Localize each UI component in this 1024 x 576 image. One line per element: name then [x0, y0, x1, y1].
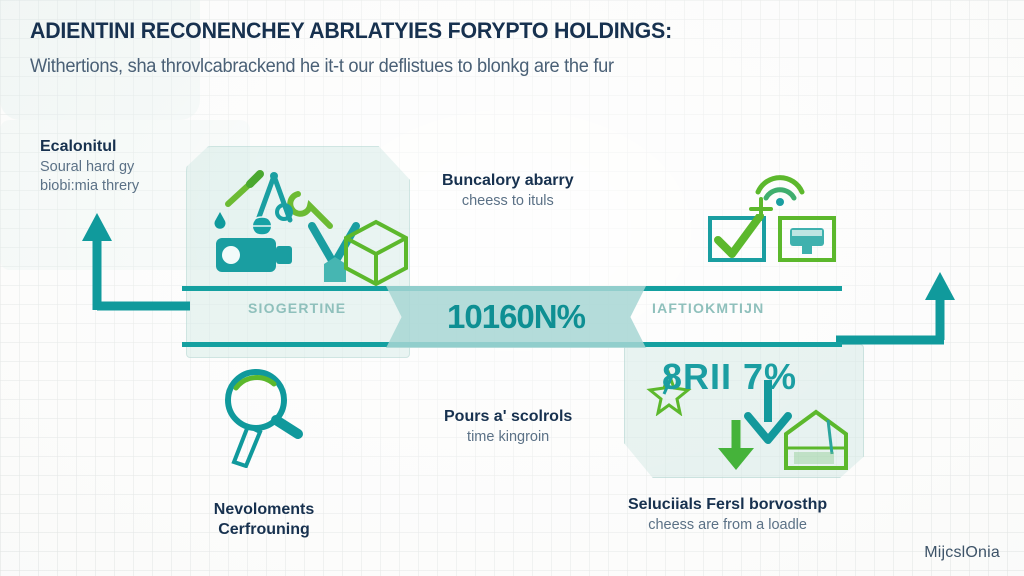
label-top-left-line1: Soural hard gy: [40, 159, 139, 175]
banner-caption-right: IAFTIOKMTIJN: [652, 300, 764, 316]
infographic-canvas: ADIENTINI RECONENCHEY ABRLATYIES FORYPTO…: [0, 0, 1024, 576]
page-title: ADIENTINI RECONENCHEY ABRLATYIES FORYPTO…: [30, 18, 961, 44]
label-middle: Pours a' scolrols time kingroin: [444, 408, 572, 445]
label-bottom-left-title: Nevoloments Cerfrouning: [196, 500, 332, 540]
watermark: MijcslOnia: [924, 544, 1000, 562]
down-arrow-icon: [714, 418, 758, 474]
label-top-right-line1: cheess to ituls: [442, 193, 574, 209]
banner-value: 10160N%: [386, 286, 646, 348]
label-top-left-title: Ecalonitul: [40, 138, 139, 156]
cube-icon: [340, 216, 412, 288]
label-bottom-right: Seluciials Fersl borvosthp cheess are fr…: [628, 496, 827, 533]
magnifier-icon: [212, 362, 316, 468]
checkbox-icon: [706, 214, 768, 264]
panel-figure-value: 8RII 7%: [662, 356, 797, 398]
banner-caption-left: SIOGERTINE: [248, 300, 346, 316]
label-top-right: Buncalory abarry cheess to ituls: [442, 172, 574, 209]
monitor-icon: [776, 214, 838, 264]
label-bottom-left: Nevoloments Cerfrouning: [196, 500, 332, 540]
house-icon: [780, 408, 852, 472]
header: ADIENTINI RECONENCHEY ABRLATYIES FORYPTO…: [30, 18, 990, 78]
label-top-left-line2: biobi:mia threry: [40, 178, 139, 194]
label-bottom-right-title: Seluciials Fersl borvosthp: [628, 496, 827, 514]
label-middle-line1: time kingroin: [444, 429, 572, 445]
battery-icon: [214, 228, 300, 282]
label-bottom-right-line1: cheess are from a loadle: [628, 517, 827, 533]
page-subtitle: Withertions, sha throvlcabrackend he it-…: [30, 56, 952, 78]
label-top-right-title: Buncalory abarry: [442, 172, 574, 190]
label-middle-title: Pours a' scolrols: [444, 408, 572, 426]
label-top-left: Ecalonitul Soural hard gy biobi:mia thre…: [40, 138, 139, 194]
